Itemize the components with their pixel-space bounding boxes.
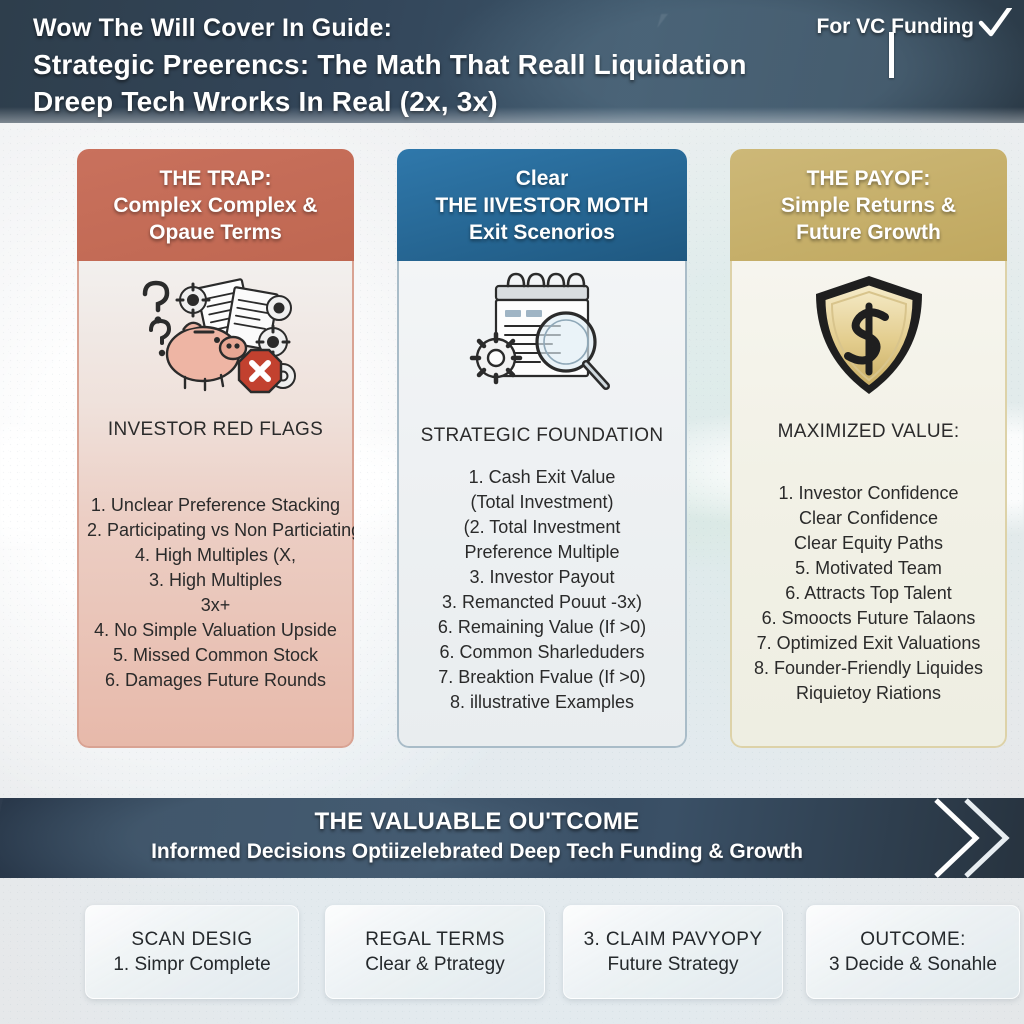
outcome-banner: THE VALUABLE OU'TCOME Informed Decisions… — [0, 798, 1024, 878]
step-title: SCAN DESIG — [131, 927, 252, 952]
header-kicker: Wow The Will Cover In Guide: — [33, 10, 863, 46]
list-item: Riquietoy Riations — [740, 681, 997, 706]
header-title-group: Wow The Will Cover In Guide: Strategic P… — [33, 10, 863, 120]
column-list-payoff: 1. Investor Confidence Clear Confidence … — [740, 481, 997, 706]
shield-dollar-icon — [740, 261, 997, 411]
column-sublabel-trap: INVESTOR RED FLAGS — [87, 419, 344, 441]
column-header-line: Complex Complex & — [87, 192, 344, 219]
list-item: 6. Remaining Value (If >0) — [407, 615, 677, 640]
check-icon — [978, 8, 1012, 45]
step-card-scan[interactable]: SCAN DESIG 1. Simpr Complete — [85, 905, 299, 999]
list-item: 8. illustrative Examples — [407, 690, 677, 715]
badge-divider-bar — [889, 32, 894, 78]
column-card-trap[interactable]: THE TRAP: Complex Complex & Opaue Terms — [77, 149, 354, 748]
list-item: 8. Founder-Friendly Liquides — [740, 656, 997, 681]
list-item: Preference Multiple — [407, 540, 677, 565]
column-header-line: Exit Scenorios — [407, 219, 677, 246]
outcome-title: THE VALUABLE OU'TCOME — [0, 806, 954, 837]
piggy-bank-confusion-icon — [87, 261, 344, 411]
column-body-trap: INVESTOR RED FLAGS 1. Unclear Preference… — [77, 261, 354, 748]
list-item: 6. Attracts Top Talent — [740, 581, 997, 606]
step-subtitle: Clear & Ptrategy — [365, 952, 504, 978]
list-item: 4. High Multiples (X, — [87, 543, 344, 568]
column-header-payoff: THE PAYOF: Simple Returns & Future Growt… — [730, 149, 1007, 261]
column-header-line: Clear — [407, 165, 677, 192]
column-body-payoff: MAXIMIZED VALUE: 1. Investor Confidence … — [730, 261, 1007, 748]
column-header-line: Opaue Terms — [87, 219, 344, 246]
step-subtitle: 3 Decide & Sonahle — [829, 952, 997, 978]
infographic-canvas: Wow The Will Cover In Guide: Strategic P… — [0, 0, 1024, 1024]
column-list-math: 1. Cash Exit Value (Total Investment) (2… — [407, 465, 677, 715]
list-item: 3. High Multiples — [87, 568, 344, 593]
step-title: 3. CLAIM PAVYOPY — [584, 927, 763, 952]
column-card-payoff[interactable]: THE PAYOF: Simple Returns & Future Growt… — [730, 149, 1007, 748]
chevron-right-icon — [932, 798, 1022, 878]
document-magnifier-gear-icon — [407, 261, 677, 411]
column-list-trap: 1. Unclear Preference Stacking 2. Partic… — [87, 493, 344, 693]
column-header-line: THE PAYOF: — [740, 165, 997, 192]
list-item: 4. No Simple Valuation Upside — [87, 618, 344, 643]
list-item: 1. Investor Confidence — [740, 481, 997, 506]
list-item: 3. Remancted Pouut -3x) — [407, 590, 677, 615]
steps-row: SCAN DESIG 1. Simpr Complete REGAL TERMS… — [0, 905, 1024, 1005]
step-card-outcome[interactable]: OUTCOME: 3 Decide & Sonahle — [806, 905, 1020, 999]
columns-region: THE TRAP: Complex Complex & Opaue Terms — [0, 149, 1024, 749]
vc-funding-badge: For VC Funding — [817, 8, 1012, 45]
list-item: Clear Confidence — [740, 506, 997, 531]
outcome-text-group: THE VALUABLE OU'TCOME Informed Decisions… — [0, 806, 954, 867]
step-card-terms[interactable]: REGAL TERMS Clear & Ptrategy — [325, 905, 545, 999]
column-header-math: Clear THE IIVESTOR MOTH Exit Scenorios — [397, 149, 687, 261]
vc-funding-badge-label: For VC Funding — [817, 15, 974, 39]
list-item: 6. Common Sharleduders — [407, 640, 677, 665]
list-item: Clear Equity Paths — [740, 531, 997, 556]
column-header-line: Simple Returns & — [740, 192, 997, 219]
list-item: 1. Unclear Preference Stacking — [87, 493, 344, 518]
column-body-math: STRATEGIC FOUNDATION 1. Cash Exit Value … — [397, 261, 687, 748]
column-header-line: Future Growth — [740, 219, 997, 246]
list-item: 1. Cash Exit Value — [407, 465, 677, 490]
outcome-subtitle: Informed Decisions Optiizelebrated Deep … — [0, 837, 954, 867]
column-header-line: THE TRAP: — [87, 165, 344, 192]
list-item: 3x+ — [87, 593, 344, 618]
step-subtitle: Future Strategy — [608, 952, 739, 978]
column-sublabel-payoff: MAXIMIZED VALUE: — [740, 421, 997, 443]
header-band: Wow The Will Cover In Guide: Strategic P… — [0, 0, 1024, 123]
list-item: 5. Motivated Team — [740, 556, 997, 581]
step-title: REGAL TERMS — [365, 927, 505, 952]
list-item: 5. Missed Common Stock — [87, 643, 344, 668]
list-item: 2. Participating vs Non Particiating — [87, 518, 344, 543]
list-item: (2. Total Investment — [407, 515, 677, 540]
column-header-line: THE IIVESTOR MOTH — [407, 192, 677, 219]
list-item: 7. Breaktion Fvalue (If >0) — [407, 665, 677, 690]
header-bottom-glow — [0, 107, 1024, 123]
list-item: 6. Smoocts Future Talaons — [740, 606, 997, 631]
step-title: OUTCOME: — [860, 927, 966, 952]
step-card-claim[interactable]: 3. CLAIM PAVYOPY Future Strategy — [563, 905, 783, 999]
step-subtitle: 1. Simpr Complete — [113, 952, 270, 978]
column-card-math[interactable]: Clear THE IIVESTOR MOTH Exit Scenorios — [397, 149, 687, 748]
column-sublabel-math: STRATEGIC FOUNDATION — [407, 425, 677, 447]
list-item: (Total Investment) — [407, 490, 677, 515]
column-header-trap: THE TRAP: Complex Complex & Opaue Terms — [77, 149, 354, 261]
list-item: 7. Optimized Exit Valuations — [740, 631, 997, 656]
header-title-line2: Strategic Preerencs: The Math That Reall… — [33, 46, 863, 83]
list-item: 3. Investor Payout — [407, 565, 677, 590]
list-item: 6. Damages Future Rounds — [87, 668, 344, 693]
